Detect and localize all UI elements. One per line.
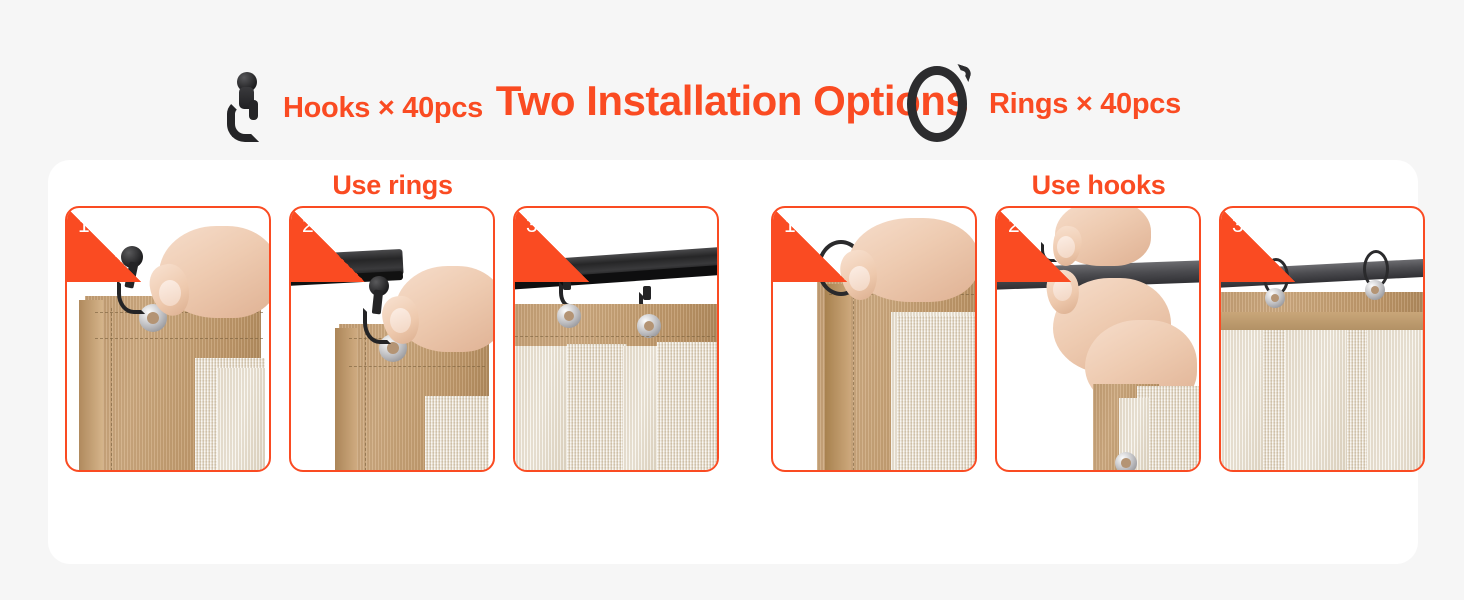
step-card-rings-1[interactable]: 1: [65, 206, 271, 472]
legend-hooks-label: Hooks × 40pcs: [283, 92, 483, 125]
step-photo-rings-1: [67, 208, 269, 470]
step-photo-rings-2: [291, 208, 493, 470]
step-card-hooks-1[interactable]: 1: [771, 206, 977, 472]
hook-icon: [225, 72, 267, 144]
legend-rings-label: Rings × 40pcs: [989, 88, 1181, 121]
group-heading-use-rings: Use rings: [65, 170, 720, 201]
steps-row-use-hooks: 1: [771, 206, 1425, 472]
legend-rings: Rings × 40pcs: [901, 64, 1181, 144]
instructions-panel: Use rings: [48, 160, 1418, 564]
steps-row-use-rings: 1: [65, 206, 719, 472]
group-heading-use-hooks: Use hooks: [771, 170, 1426, 201]
step-photo-hooks-1: [773, 208, 975, 470]
step-card-hooks-3[interactable]: 3: [1219, 206, 1425, 472]
step-photo-rings-3: [515, 208, 717, 470]
ring-icon: [901, 64, 973, 144]
page-title: Two Installation Options: [0, 78, 1464, 124]
step-photo-hooks-2: [997, 208, 1199, 470]
legend-hooks: Hooks × 40pcs: [225, 72, 483, 144]
step-photo-hooks-3: [1221, 208, 1423, 470]
step-card-rings-2[interactable]: 2: [289, 206, 495, 472]
step-card-rings-3[interactable]: 3: [513, 206, 719, 472]
step-card-hooks-2[interactable]: 2: [995, 206, 1201, 472]
